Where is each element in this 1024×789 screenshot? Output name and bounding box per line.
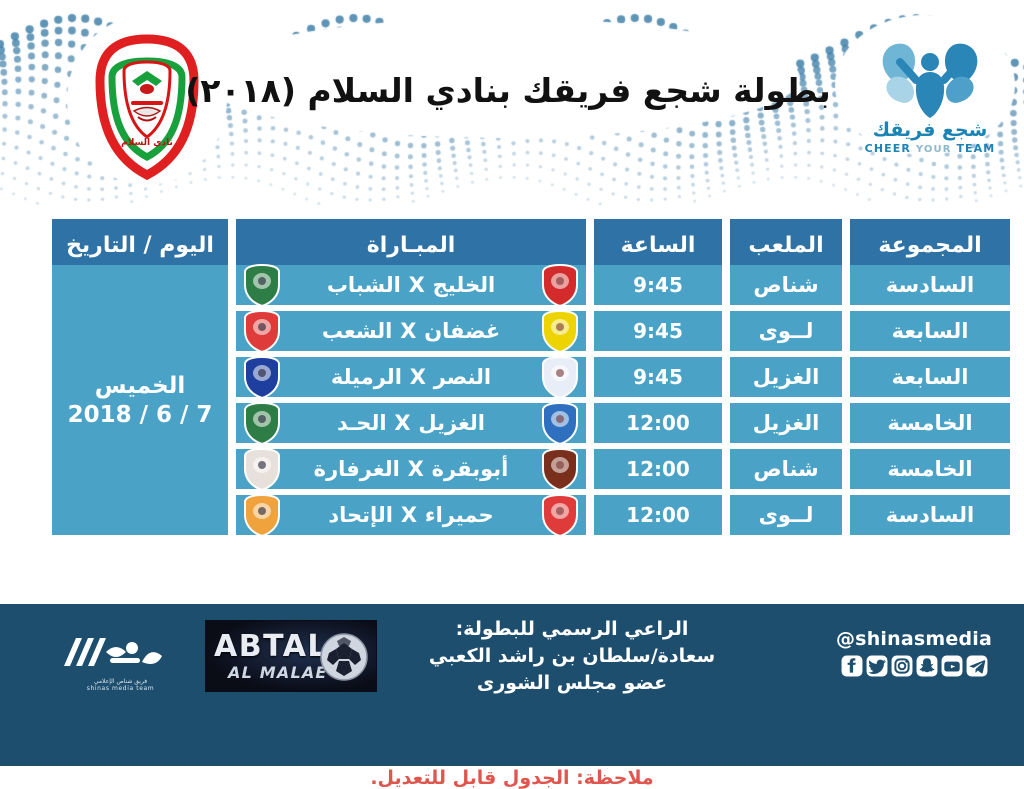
- match-label: النصر X الرميلة: [331, 365, 491, 389]
- match-label: أبوبقرة X الغرفارة: [314, 457, 509, 481]
- match-label: الخليج X الشباب: [327, 273, 495, 297]
- sponsor-block: الراعي الرسمي للبطولة: سعادة/سلطان بن را…: [362, 616, 782, 697]
- media-logo-arabic-sub: فريق شناص الإعلامي: [48, 678, 193, 685]
- cell-match: أبوبقرة X الغرفارة: [236, 449, 586, 489]
- cell-group: السادسة: [850, 495, 1010, 535]
- shinas-media-logo: فريق شناص الإعلامي shinas media team: [48, 632, 193, 702]
- instagram-icon[interactable]: [891, 655, 913, 677]
- cell-time: 9:45: [594, 357, 722, 397]
- social-handle: @shinasmedia: [824, 628, 1004, 650]
- facebook-icon[interactable]: [841, 655, 863, 677]
- telegram-icon[interactable]: [966, 655, 988, 677]
- cell-stadium: شناص: [730, 449, 842, 489]
- match-label: الغزيل X الحـد: [337, 411, 485, 435]
- cell-match: الخليج X الشباب: [236, 265, 586, 305]
- cell-time: 12:00: [594, 449, 722, 489]
- column-header-stadium: الملعب: [730, 219, 842, 271]
- social-icon-row: [824, 655, 1004, 677]
- team-badge-left: [242, 447, 282, 491]
- cell-match: النصر X الرميلة: [236, 357, 586, 397]
- team-badge-right: [540, 447, 580, 491]
- match-label: غضفان X الشعب: [322, 319, 500, 343]
- svg-text:نادي السلام: نادي السلام: [121, 138, 173, 148]
- cell-stadium: لــوى: [730, 495, 842, 535]
- cell-group: السادسة: [850, 265, 1010, 305]
- cell-time: 9:45: [594, 265, 722, 305]
- page-title: بطولة شجع فريقك بنادي السلام (٢٠١٨): [228, 56, 788, 124]
- cell-stadium: لــوى: [730, 311, 842, 351]
- team-badge-right: [540, 355, 580, 399]
- date-value: 2018 / 6 / 7: [68, 402, 213, 428]
- snapchat-icon[interactable]: [916, 655, 938, 677]
- team-badge-right: [540, 263, 580, 307]
- cell-group: الخامسة: [850, 449, 1010, 489]
- twitter-icon[interactable]: [866, 655, 888, 677]
- cheer-word: CHEER: [865, 142, 911, 155]
- sponsor-line-2: سعادة/سلطان بن راشد الكعبي: [362, 643, 782, 670]
- sponsor-line-1: الراعي الرسمي للبطولة:: [362, 616, 782, 643]
- media-logo-english-sub: shinas media team: [48, 685, 193, 692]
- team-badge-right: [540, 401, 580, 445]
- cell-time: 12:00: [594, 403, 722, 443]
- team-word: TEAM: [956, 142, 995, 155]
- sponsor-line-3: عضو مجلس الشورى: [362, 670, 782, 697]
- date-day: الخميس: [95, 373, 185, 399]
- team-badge-left: [242, 263, 282, 307]
- cell-stadium: الغزيل: [730, 357, 842, 397]
- cell-time: 9:45: [594, 311, 722, 351]
- youtube-icon[interactable]: [941, 655, 963, 677]
- team-badge-left: [242, 355, 282, 399]
- cell-stadium: الغزيل: [730, 403, 842, 443]
- schedule-table: المجموعة الملعب الساعة المبـاراة اليوم /…: [14, 219, 1010, 535]
- cell-date: الخميس2018 / 6 / 7: [52, 265, 228, 535]
- team-badge-left: [242, 309, 282, 353]
- social-block: @shinasmedia: [824, 628, 1004, 677]
- cheer-your-team-logo: شجع فريقك CHEER YOUR TEAM: [845, 28, 1015, 178]
- cheer-logo-arabic: شجع فريقك: [845, 119, 1015, 141]
- team-badge-left: [242, 493, 282, 537]
- column-header-group: المجموعة: [850, 219, 1010, 271]
- team-badge-right: [540, 493, 580, 537]
- your-word: YOUR: [916, 144, 952, 155]
- page-header: نادي السلام بطولة شجع فريقك بنادي السلام…: [0, 0, 1024, 205]
- cheer-figure-icon: [870, 28, 990, 123]
- cell-stadium: شناص: [730, 265, 842, 305]
- column-header-match: المبـاراة: [236, 219, 586, 271]
- cell-group: السابعة: [850, 357, 1010, 397]
- team-badge-left: [242, 401, 282, 445]
- cell-match: حميراء X الإتحاد: [236, 495, 586, 535]
- team-badge-right: [540, 309, 580, 353]
- cell-group: الخامسة: [850, 403, 1010, 443]
- schedule-section: المجموعة الملعب الساعة المبـاراة اليوم /…: [0, 205, 1024, 557]
- abtal-title: ABTAL: [214, 629, 328, 664]
- cell-time: 12:00: [594, 495, 722, 535]
- column-header-time: الساعة: [594, 219, 722, 271]
- schedule-note: ملاحظة: الجدول قابل للتعديل.: [0, 767, 1024, 789]
- cell-group: السابعة: [850, 311, 1010, 351]
- column-header-date: اليوم / التاريخ: [52, 219, 228, 271]
- match-label: حميراء X الإتحاد: [328, 503, 493, 527]
- shinas-media-mark-icon: [58, 632, 183, 676]
- abtal-al-malaeb-logo: ABTAL AL MALAE'B: [205, 620, 377, 692]
- cell-match: الغزيل X الحـد: [236, 403, 586, 443]
- cell-match: غضفان X الشعب: [236, 311, 586, 351]
- cheer-logo-english: CHEER YOUR TEAM: [845, 142, 1015, 155]
